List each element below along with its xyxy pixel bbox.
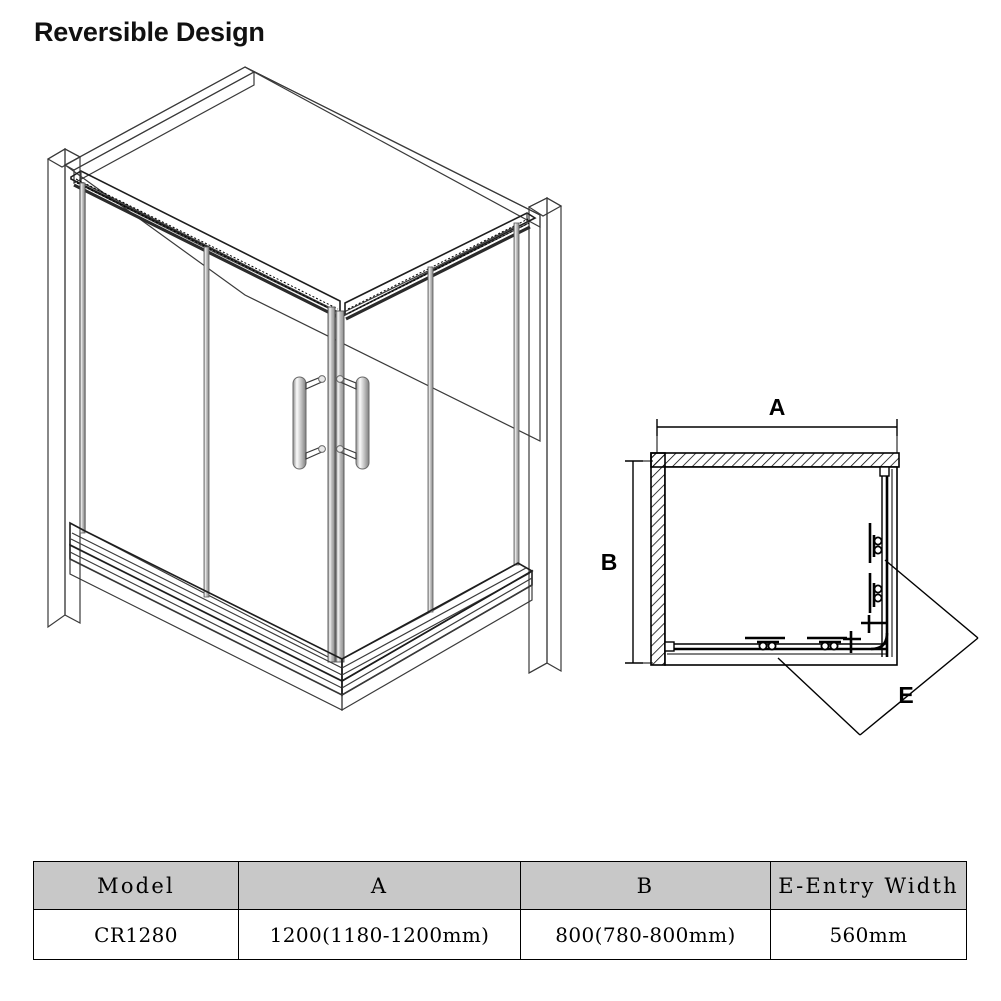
stile-left-fixed (80, 183, 85, 533)
bottom-rail-side (342, 563, 532, 695)
specification-table: Model A B E-Entry Width CR1280 1200(1180… (33, 861, 967, 960)
shower-tray-base (70, 559, 532, 710)
table-row: CR1280 1200(1180-1200mm) 800(780-800mm) … (34, 910, 967, 960)
dimension-a: A (657, 394, 897, 453)
wall-hatch-left (651, 453, 665, 665)
column-header-e: E-Entry Width (771, 862, 967, 910)
dimension-b: B (601, 461, 653, 663)
table-header-row: Model A B E-Entry Width (34, 862, 967, 910)
isometric-shower-enclosure (40, 55, 580, 765)
glass-panel-fixed-left (85, 187, 208, 595)
cell-model: CR1280 (34, 910, 239, 960)
door-handle-left[interactable] (293, 376, 325, 469)
column-header-a: A (239, 862, 521, 910)
stile-mid-right (428, 267, 433, 612)
stile-mid-left (204, 247, 209, 597)
cell-b: 800(780-800mm) (521, 910, 771, 960)
column-header-b: B (521, 862, 771, 910)
dimension-b-label: B (601, 549, 618, 575)
stile-right-fixed (514, 223, 519, 565)
glass-panel-sliding-left (208, 249, 332, 659)
wall-top-cap (65, 67, 540, 227)
enclosure-outline (665, 467, 897, 665)
right-wall-edge (529, 198, 561, 673)
column-header-model: Model (34, 862, 239, 910)
wall-hatch-top (651, 453, 899, 467)
page-title: Reversible Design (34, 17, 265, 48)
corner-post (328, 307, 344, 662)
glass-panel-fixed-right (432, 225, 518, 611)
plan-view-diagram: A B (595, 395, 995, 770)
dimension-e-label: E (898, 682, 913, 708)
left-wall-edge (48, 149, 80, 627)
dimension-a-label: A (769, 394, 786, 420)
cell-e: 560mm (771, 910, 967, 960)
top-rail-side (345, 213, 535, 319)
cell-a: 1200(1180-1200mm) (239, 910, 521, 960)
glass-panel-sliding-right (342, 269, 432, 659)
